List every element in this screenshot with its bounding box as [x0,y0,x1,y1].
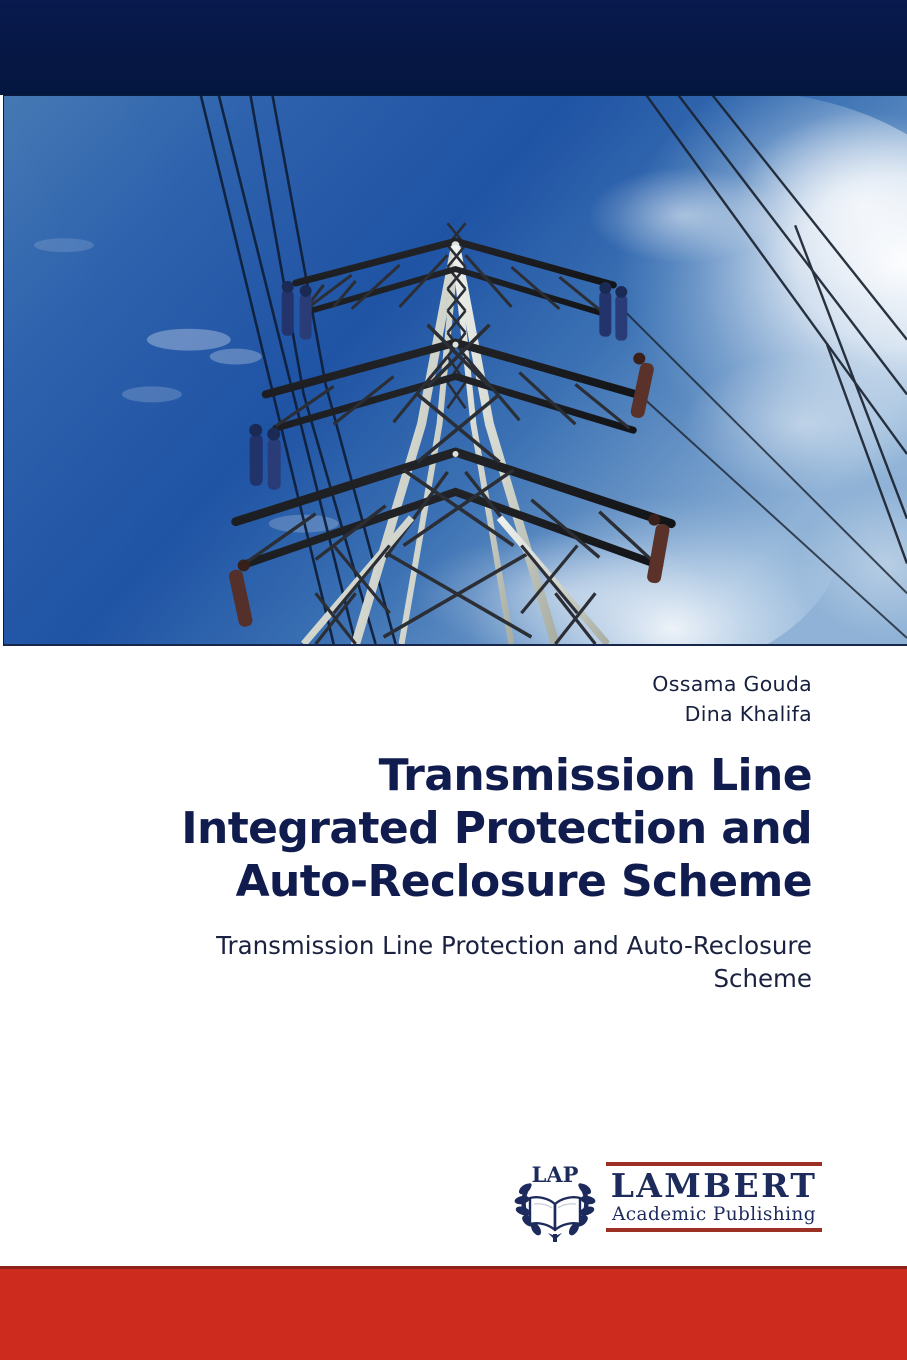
transmission-tower-illustration [4,96,907,644]
author-name: Ossama Gouda [652,669,812,699]
subtitle-line: Scheme [72,962,812,995]
lap-mark-text: LAP [532,1162,579,1187]
title-line: Integrated Protection and [52,802,812,855]
logo-bottom-rule [606,1228,822,1232]
book-subtitle: Transmission Line Protection and Auto-Re… [72,929,812,995]
publisher-wordmark: LAMBERT Academic Publishing [606,1162,822,1232]
lap-emblem-svg: LAP [512,1158,598,1244]
title-line: Auto-Reclosure Scheme [52,855,812,908]
lap-wreath-book-icon: LAP [512,1158,598,1244]
author-name: Dina Khalifa [652,699,812,729]
cover-photo [3,95,907,646]
bottom-red-band [0,1266,907,1360]
publisher-logo: LAP LAMBERT Academic Publishing [512,1158,822,1246]
subtitle-line: Transmission Line Protection and Auto-Re… [72,929,812,962]
book-title: Transmission Line Integrated Protection … [52,749,812,908]
publisher-name: LAMBERT [606,1167,822,1204]
title-line: Transmission Line [52,749,812,802]
publisher-tagline: Academic Publishing [606,1204,822,1226]
top-navy-band [0,0,907,95]
author-list: Ossama Gouda Dina Khalifa [652,669,812,729]
